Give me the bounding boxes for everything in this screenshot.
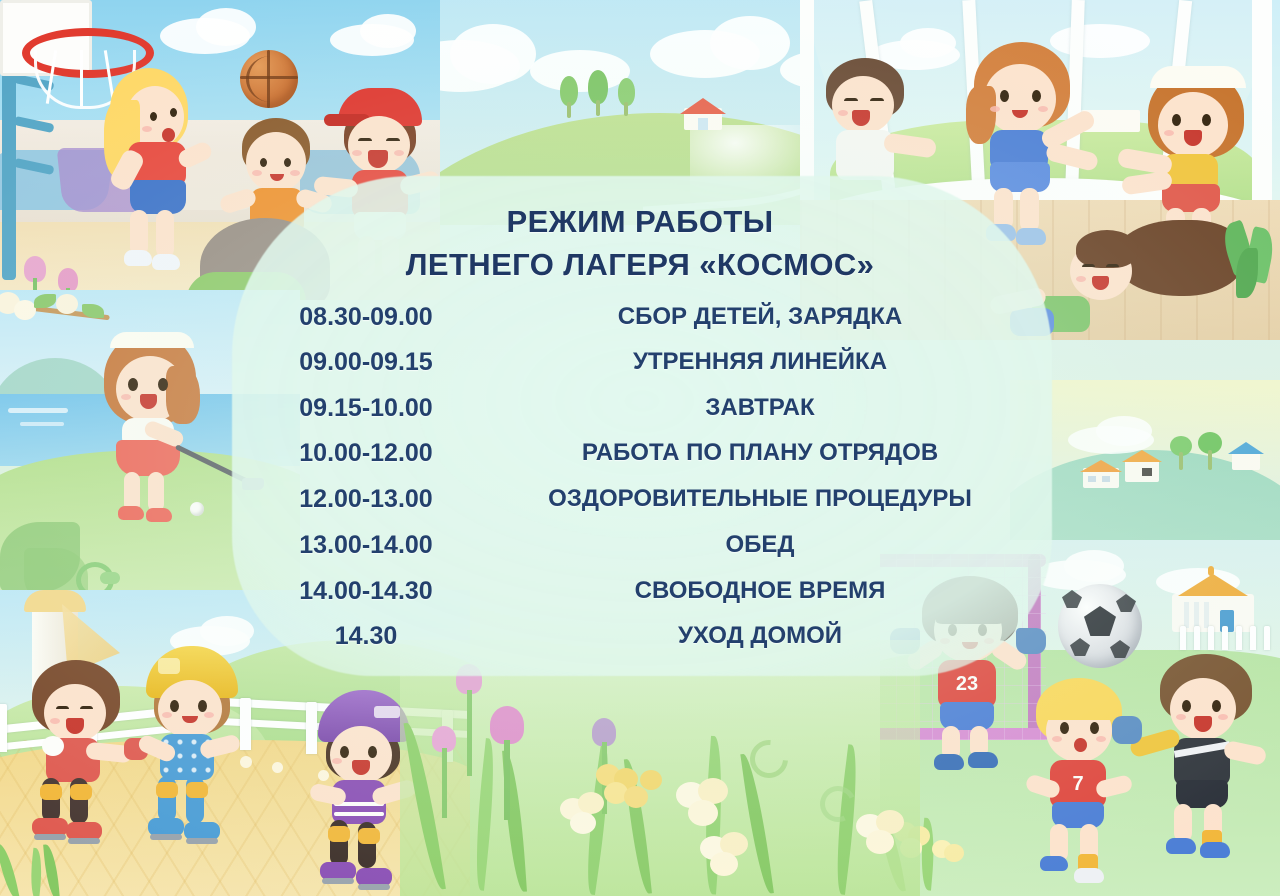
table-row: 14.30 УХОД ДОМОЙ [0,619,1280,653]
schedule-activity: ОБЕД [500,528,1020,562]
schedule-activity: ОЗДОРОВИТЕЛЬНЫЕ ПРОЦЕДУРЫ [500,482,1020,516]
schedule-time: 08.30-09.00 [246,300,486,334]
schedule-time: 10.00-12.00 [246,436,486,470]
schedule-activity: УТРЕННЯЯ ЛИНЕЙКА [500,345,1020,379]
table-row: 08.30-09.00 СБОР ДЕТЕЙ, ЗАРЯДКА [0,300,1280,334]
poster-root: 23 7 [0,0,1280,896]
schedule-activity: РАБОТА ПО ПЛАНУ ОТРЯДОВ [500,436,1020,470]
schedule-time: 14.00-14.30 [246,574,486,608]
title-line-1: РЕЖИМ РАБОТЫ [0,200,1280,243]
schedule-time: 09.15-10.00 [246,391,486,425]
table-row: 09.00-09.15 УТРЕННЯЯ ЛИНЕЙКА [0,345,1280,379]
schedule-activity: СБОР ДЕТЕЙ, ЗАРЯДКА [500,300,1020,334]
schedule-time: 13.00-14.00 [246,528,486,562]
table-row: 14.00-14.30 СВОБОДНОЕ ВРЕМЯ [0,574,1280,608]
schedule-time: 12.00-13.00 [246,482,486,516]
title-line-2: ЛЕТНЕГО ЛАГЕРЯ «КОСМОС» [0,243,1280,286]
table-row: 12.00-13.00 ОЗДОРОВИТЕЛЬНЫЕ ПРОЦЕДУРЫ [0,482,1280,516]
page-title: РЕЖИМ РАБОТЫ ЛЕТНЕГО ЛАГЕРЯ «КОСМОС» [0,200,1280,286]
table-row: 10.00-12.00 РАБОТА ПО ПЛАНУ ОТРЯДОВ [0,436,1280,470]
schedule-activity: ЗАВТРАК [500,391,1020,425]
schedule-time: 09.00-09.15 [246,345,486,379]
schedule-time: 14.30 [246,619,486,653]
table-row: 09.15-10.00 ЗАВТРАК [0,391,1280,425]
poster-content: РЕЖИМ РАБОТЫ ЛЕТНЕГО ЛАГЕРЯ «КОСМОС» 08.… [0,0,1280,896]
schedule-activity: СВОБОДНОЕ ВРЕМЯ [500,574,1020,608]
table-row: 13.00-14.00 ОБЕД [0,528,1280,562]
schedule-activity: УХОД ДОМОЙ [500,619,1020,653]
